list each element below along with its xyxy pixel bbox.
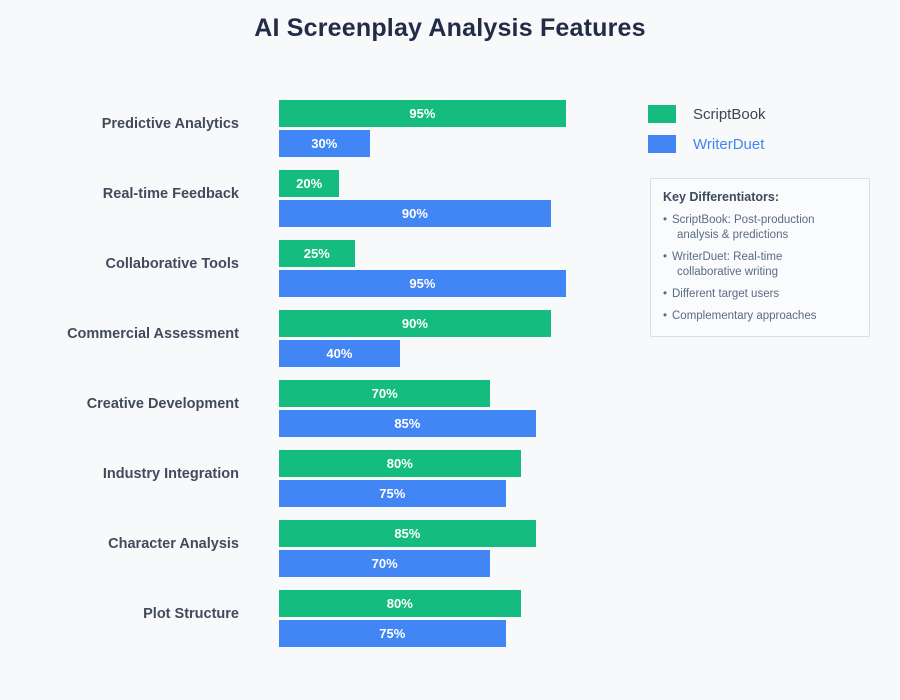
bar-group: 25%95% <box>279 240 566 297</box>
bar-value-label: 70% <box>279 550 490 577</box>
category-label: Creative Development <box>0 384 239 424</box>
key-differentiators-list: •ScriptBook: Post-productionanalysis & p… <box>663 213 857 324</box>
key-differentiators-panel: Key Differentiators: •ScriptBook: Post-p… <box>650 178 870 337</box>
bar-scriptbook[interactable]: 85% <box>279 520 536 547</box>
key-differentiator-text-continued: analysis & predictions <box>672 228 857 243</box>
bar-scriptbook[interactable]: 20% <box>279 170 339 197</box>
category-label: Predictive Analytics <box>0 104 239 144</box>
key-differentiator-text: ScriptBook: Post-production <box>672 214 815 226</box>
chart-row: Collaborative Tools25%95% <box>0 236 640 306</box>
key-differentiator-text: Complementary approaches <box>672 310 816 322</box>
legend-label: ScriptBook <box>693 106 766 123</box>
chart-row: Real-time Feedback20%90% <box>0 166 640 236</box>
bar-value-label: 20% <box>279 170 339 197</box>
bar-writerduet[interactable]: 85% <box>279 410 536 437</box>
bullet-icon: • <box>663 213 667 228</box>
bar-writerduet[interactable]: 95% <box>279 270 566 297</box>
bar-scriptbook[interactable]: 80% <box>279 450 521 477</box>
bar-scriptbook[interactable]: 90% <box>279 310 551 337</box>
category-label: Real-time Feedback <box>0 174 239 214</box>
key-differentiator-item: •ScriptBook: Post-productionanalysis & p… <box>663 213 857 243</box>
key-differentiators-title: Key Differentiators: <box>663 190 857 204</box>
key-differentiator-item: •Different target users <box>663 287 857 302</box>
category-label: Commercial Assessment <box>0 314 239 354</box>
bullet-icon: • <box>663 309 667 324</box>
legend-item-scriptbook[interactable]: ScriptBook <box>648 99 766 129</box>
category-label: Industry Integration <box>0 454 239 494</box>
bar-scriptbook[interactable]: 95% <box>279 100 566 127</box>
bar-group: 90%40% <box>279 310 551 367</box>
category-label: Collaborative Tools <box>0 244 239 284</box>
legend-label: WriterDuet <box>693 136 764 153</box>
bullet-icon: • <box>663 250 667 265</box>
bar-group: 85%70% <box>279 520 536 577</box>
bar-value-label: 25% <box>279 240 355 267</box>
bar-group: 70%85% <box>279 380 536 437</box>
bar-value-label: 80% <box>279 590 521 617</box>
bar-value-label: 95% <box>279 270 566 297</box>
bar-value-label: 90% <box>279 200 551 227</box>
bar-value-label: 85% <box>279 410 536 437</box>
bullet-icon: • <box>663 287 667 302</box>
chart-row: Character Analysis85%70% <box>0 516 640 586</box>
legend-swatch-icon <box>648 105 676 123</box>
chart-row: Predictive Analytics95%30% <box>0 96 640 166</box>
bar-writerduet[interactable]: 30% <box>279 130 370 157</box>
category-label: Plot Structure <box>0 594 239 634</box>
bar-value-label: 75% <box>279 620 506 647</box>
key-differentiator-text: Different target users <box>672 288 779 300</box>
bar-scriptbook[interactable]: 25% <box>279 240 355 267</box>
bar-value-label: 75% <box>279 480 506 507</box>
bar-group: 20%90% <box>279 170 551 227</box>
bar-group: 80%75% <box>279 590 521 647</box>
page-title: AI Screenplay Analysis Features <box>0 14 900 43</box>
key-differentiator-text-continued: collaborative writing <box>672 265 857 280</box>
bar-scriptbook[interactable]: 80% <box>279 590 521 617</box>
bar-writerduet[interactable]: 75% <box>279 480 506 507</box>
legend-swatch-icon <box>648 135 676 153</box>
bar-chart-plot-area: Predictive Analytics95%30%Real-time Feed… <box>0 96 640 656</box>
chart-legend: ScriptBookWriterDuet <box>648 99 766 159</box>
chart-row: Industry Integration80%75% <box>0 446 640 516</box>
bar-value-label: 95% <box>279 100 566 127</box>
key-differentiator-text: WriterDuet: Real-time <box>672 251 782 263</box>
bar-group: 95%30% <box>279 100 566 157</box>
category-label: Character Analysis <box>0 524 239 564</box>
bar-writerduet[interactable]: 90% <box>279 200 551 227</box>
legend-item-writerduet[interactable]: WriterDuet <box>648 129 766 159</box>
bar-writerduet[interactable]: 70% <box>279 550 490 577</box>
bar-scriptbook[interactable]: 70% <box>279 380 490 407</box>
key-differentiator-item: •Complementary approaches <box>663 309 857 324</box>
bar-value-label: 40% <box>279 340 400 367</box>
chart-row: Creative Development70%85% <box>0 376 640 446</box>
bar-value-label: 30% <box>279 130 370 157</box>
bar-value-label: 70% <box>279 380 490 407</box>
key-differentiator-item: •WriterDuet: Real-timecollaborative writ… <box>663 250 857 280</box>
bar-writerduet[interactable]: 40% <box>279 340 400 367</box>
chart-row: Commercial Assessment90%40% <box>0 306 640 376</box>
bar-value-label: 90% <box>279 310 551 337</box>
bar-group: 80%75% <box>279 450 521 507</box>
bar-value-label: 85% <box>279 520 536 547</box>
bar-value-label: 80% <box>279 450 521 477</box>
bar-writerduet[interactable]: 75% <box>279 620 506 647</box>
chart-row: Plot Structure80%75% <box>0 586 640 656</box>
